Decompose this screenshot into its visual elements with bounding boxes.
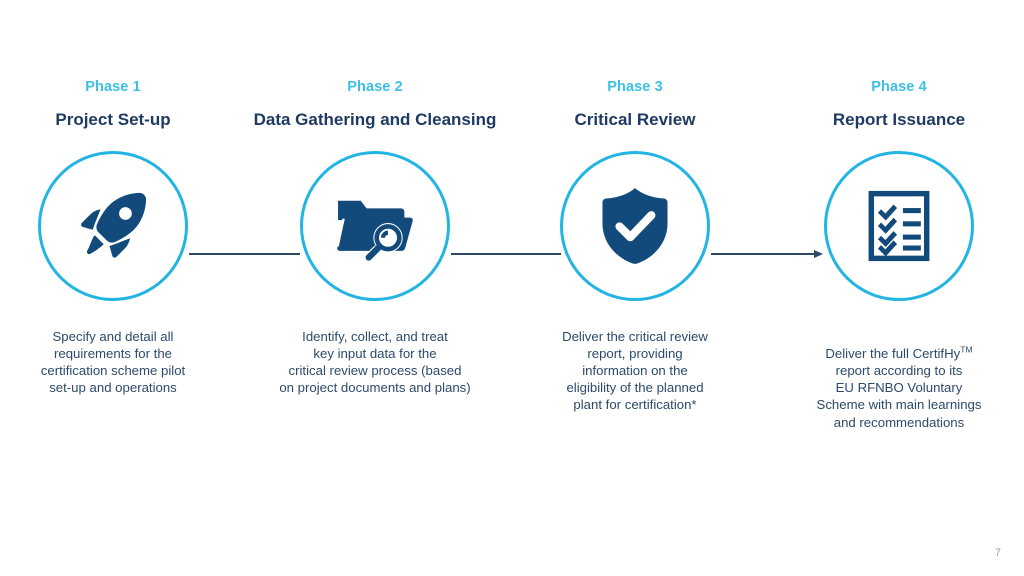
icon-ring [300, 151, 450, 301]
icon-ring [560, 151, 710, 301]
phase-description: Deliver the critical review report, prov… [529, 328, 741, 414]
phase-icon-circle [37, 150, 189, 302]
checklist-document-icon [860, 187, 938, 265]
phase-item-data-gathering-and-cleansing[interactable]: Phase 2 Data Gathering and Cleansing [250, 80, 500, 396]
phase-kicker: Phase 1 [85, 80, 141, 95]
phase-description-rest: report according to its EU RFNBO Volunta… [817, 363, 982, 430]
phase-icon-circle [299, 150, 451, 302]
page-number: 7 [995, 548, 1001, 559]
icon-ring [38, 151, 188, 301]
phase-list: Phase 1 Project Set-up [0, 0, 1024, 576]
phase-description: Deliver the full CertifHyTM report accor… [789, 328, 1009, 431]
icon-ring [824, 151, 974, 301]
shield-check-icon [592, 183, 678, 269]
connector-phase1-phase2 [189, 248, 300, 260]
phase-description: Identify, collect, and treat key input d… [253, 328, 497, 397]
phase-kicker: Phase 2 [347, 80, 403, 95]
connector-line [711, 253, 815, 255]
phase-item-project-set-up[interactable]: Phase 1 Project Set-up [0, 80, 226, 396]
phase-icon-circle [823, 150, 975, 302]
phase-title: Report Issuance [833, 111, 965, 128]
connector-phase3-phase4 [711, 248, 823, 260]
connector-line [451, 253, 561, 255]
phase-title: Project Set-up [55, 111, 170, 128]
phase-item-critical-review[interactable]: Phase 3 Critical Review Deliver the crit… [520, 80, 750, 414]
process-diagram-slide: Phase 1 Project Set-up [0, 0, 1024, 576]
phase-icon-circle [559, 150, 711, 302]
phase-description-line-1: Deliver the full CertifHy [825, 346, 960, 361]
phase-description: Specify and detail all requirements for … [6, 328, 220, 397]
phase-kicker: Phase 4 [871, 80, 927, 95]
arrowhead-icon [814, 250, 823, 258]
phase-title: Data Gathering and Cleansing [254, 111, 497, 128]
connector-line [189, 253, 300, 255]
rocket-icon [70, 183, 156, 269]
folder-search-icon [333, 184, 417, 268]
phase-title: Critical Review [575, 111, 696, 128]
trademark-superscript: TM [960, 344, 972, 354]
connector-phase2-phase3 [451, 248, 561, 260]
phase-kicker: Phase 3 [607, 80, 663, 95]
